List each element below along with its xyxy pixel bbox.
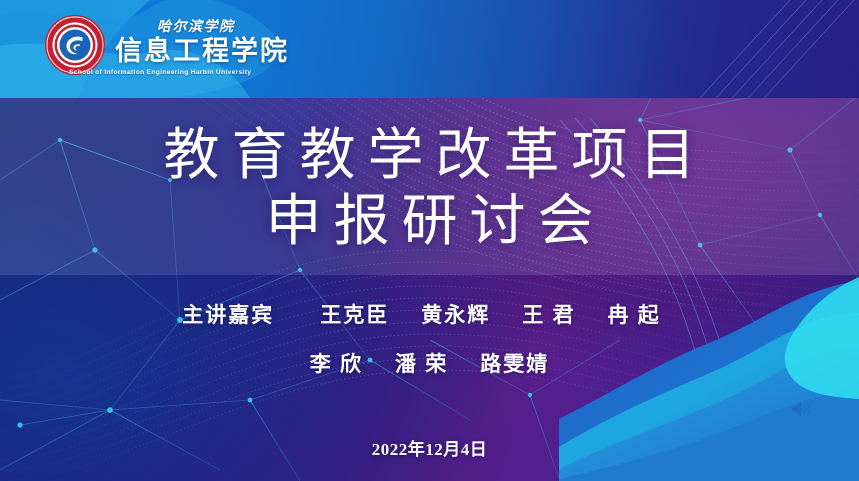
speaker-name: 王 君 [522, 303, 575, 327]
speaker-icon [790, 399, 812, 419]
speaker-name: 李 欣 [310, 352, 363, 376]
event-date: 2022年12月4日 [0, 435, 859, 460]
speaker-label: 主讲嘉宾 [182, 303, 274, 327]
speaker-name: 路雯婧 [480, 352, 549, 376]
speaker-name: 黄永辉 [421, 303, 490, 327]
speaker-row-2: 李 欣潘 荣路雯婧 [0, 352, 859, 377]
speaker-list: 主讲嘉宾王克臣黄永辉王 君冉 起 李 欣潘 荣路雯婧 [0, 303, 859, 377]
university-seal-icon [44, 14, 106, 76]
speaker-name: 冉 起 [608, 303, 661, 327]
slide-title: 教育教学改革项目 申报研讨会 [0, 122, 859, 253]
title-line-1: 教育教学改革项目 [0, 122, 859, 188]
speaker-name: 潘 荣 [395, 352, 448, 376]
title-highlight-band [0, 98, 859, 275]
university-name-cn: 哈尔滨学院 [157, 16, 289, 36]
speaker-row-1: 主讲嘉宾王克臣黄永辉王 君冉 起 [0, 303, 859, 328]
title-line-2: 申报研讨会 [0, 188, 859, 254]
college-name-cn: 信息工程学院 [115, 37, 289, 65]
speaker-name: 王克臣 [320, 303, 389, 327]
institution-logo: 哈尔滨学院 信息工程学院 School of Information Engin… [44, 14, 289, 76]
logo-text-lockup: 哈尔滨学院 信息工程学院 School of Information Engin… [115, 14, 289, 75]
institution-name-en: School of Information Engineering Harbin… [69, 69, 289, 76]
presentation-slide: 哈尔滨学院 信息工程学院 School of Information Engin… [0, 0, 859, 481]
